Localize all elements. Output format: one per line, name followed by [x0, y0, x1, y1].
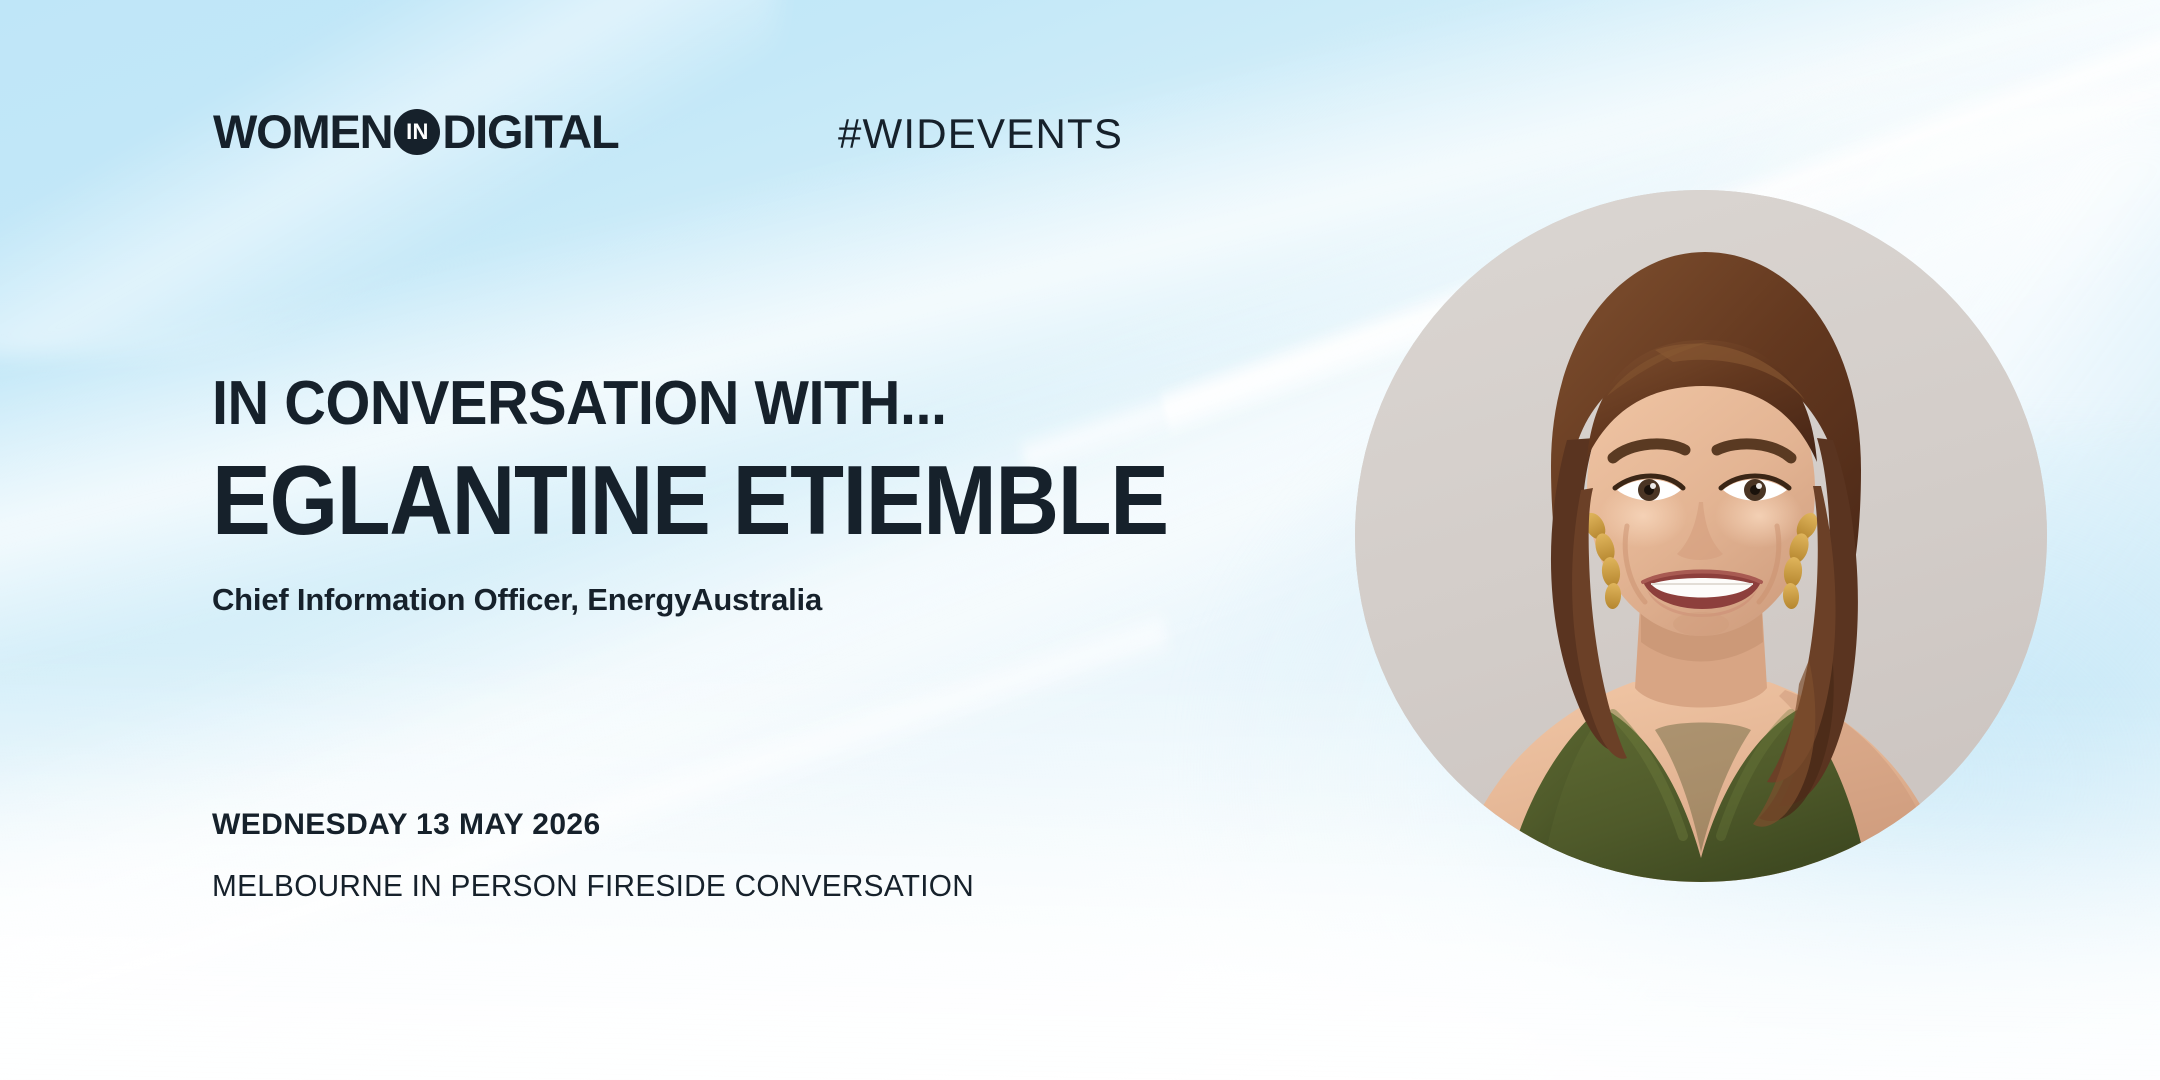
speaker-name: EGLANTINE ETIEMBLE	[212, 449, 1247, 552]
kicker-text: IN CONVERSATION WITH...	[212, 368, 1282, 439]
event-details-block: WEDNESDAY 13 MAY 2026 MELBOURNE IN PERSO…	[212, 808, 1006, 904]
speaker-role: Chief Information Officer, EnergyAustral…	[212, 582, 1362, 618]
logo-word-digital: DIGITAL	[442, 108, 618, 155]
event-date: WEDNESDAY 13 MAY 2026	[212, 808, 1006, 842]
speaker-portrait-avatar	[1355, 190, 2047, 882]
logo-in-badge-icon: IN	[394, 109, 440, 155]
event-copy-block: IN CONVERSATION WITH... EGLANTINE ETIEMB…	[212, 368, 1362, 618]
event-format: MELBOURNE IN PERSON FIRESIDE CONVERSATIO…	[212, 868, 974, 904]
logo-word-women: WOMEN	[213, 108, 392, 155]
event-banner: WOMEN IN DIGITAL #WIDEVENTS IN CONVERSAT…	[0, 0, 2160, 1080]
women-in-digital-logo: WOMEN IN DIGITAL	[213, 108, 618, 155]
speaker-portrait-illustration	[1355, 190, 2047, 882]
background-glow-top-left	[0, 0, 778, 356]
event-hashtag: #WIDEVENTS	[838, 110, 1123, 158]
